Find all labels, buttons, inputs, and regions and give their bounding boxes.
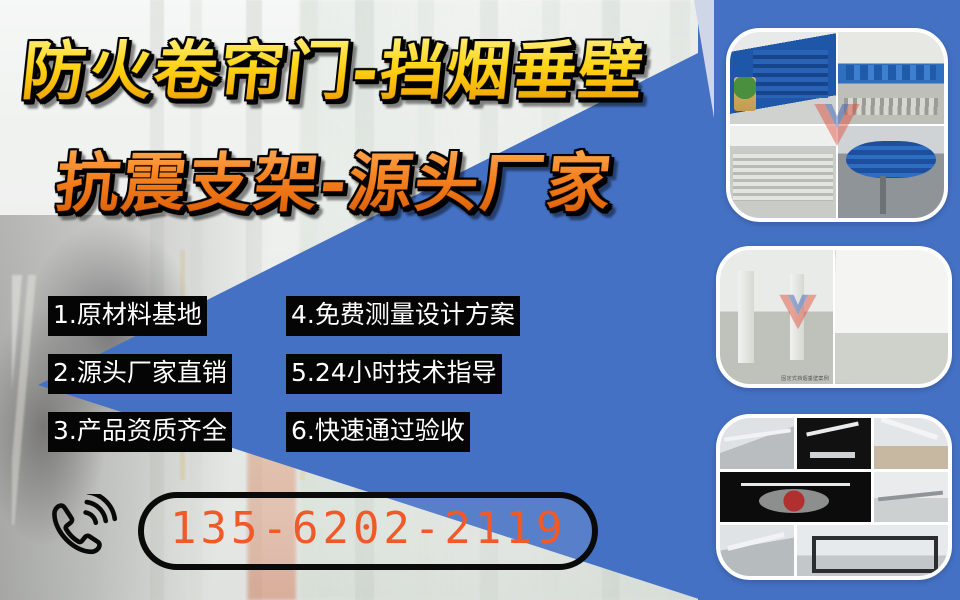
photo-seismic-bracket-pipe-rack [720,418,794,469]
photo-seismic-bracket-hanger [720,525,794,576]
feature-item: 6.快速通过验收 [286,412,470,452]
phone-call-icon [44,494,118,568]
photo-seismic-bracket-ceiling-mount [797,418,871,469]
photo-blue-shutter-coil-roll [838,126,944,218]
feature-item: 3.产品资质齐全 [48,412,232,452]
gallery-card-middle[interactable]: 固定式挡烟垂壁案例 [716,246,952,388]
feature-item: 4.免费测量设计方案 [286,296,520,336]
feature-item: 5.24小时技术指导 [286,354,502,394]
phone-number: 135-6202-2119 [170,502,566,556]
advertisement-banner: 防火卷帘门-挡烟垂壁 防火卷帘门-挡烟垂壁 抗震支架-源头厂家 抗震支架-源头厂… [0,0,960,600]
feature-item: 2.源头厂家直销 [48,354,232,394]
photo-seismic-bracket-duct-clamp [874,418,948,469]
feature-list: 1.原材料基地 4.免费测量设计方案 2.源头厂家直销 5.24小时技术指导 3… [48,296,568,470]
photo-caption: 固定式挡烟垂壁案例 [781,375,829,382]
feature-item: 1.原材料基地 [48,296,207,336]
contact-row: 135-6202-2119 [44,492,598,570]
photo-blue-rolling-shutter-door [730,32,836,124]
headline-secondary: 抗震支架-源头厂家 [52,148,616,220]
photo-parking-garage-interior: 固定式挡烟垂壁案例 [720,250,833,384]
photo-steel-shutter-door-interior [730,126,836,218]
gallery-card-bottom[interactable] [716,414,952,580]
headline-primary: 防火卷帘门-挡烟垂壁 [18,36,648,108]
photo-seismic-bracket-ceiling-brace [874,472,948,523]
photo-seismic-bracket-fan-support [720,472,871,523]
photo-seismic-bracket-steel-frame [797,525,948,576]
photo-ceiling-installation-interior [835,250,948,384]
phone-number-pill[interactable]: 135-6202-2119 [138,492,598,570]
gallery-card-top[interactable] [726,28,948,222]
photo-shutter-production-machine [838,32,944,124]
